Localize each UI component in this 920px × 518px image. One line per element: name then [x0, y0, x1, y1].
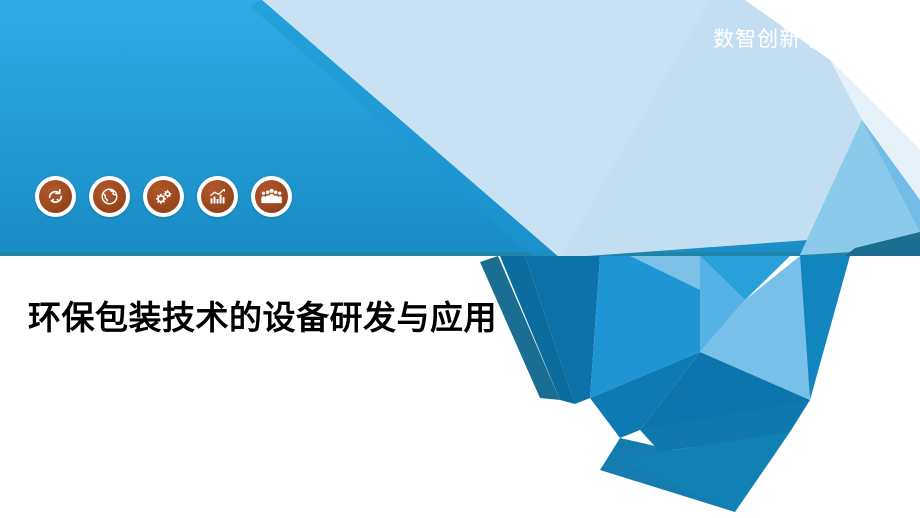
icon-badge-gears[interactable] — [143, 176, 184, 217]
decorative-polygon-background — [0, 0, 920, 518]
icon-badge-globe[interactable] — [89, 176, 130, 217]
feature-icon-strip — [35, 176, 292, 217]
icon-badge-people[interactable] — [251, 176, 292, 217]
title-block: 环保包装技术的设备研发与应用 — [28, 292, 548, 343]
gears-icon — [154, 187, 174, 207]
tagline: 数智创新 变革未来 — [713, 25, 896, 55]
icon-badge-bar-chart[interactable] — [197, 176, 238, 217]
bar-chart-growth-icon — [208, 187, 227, 206]
title-slide: 数智创新 变革未来 — [0, 0, 920, 518]
page-title: 环保包装技术的设备研发与应用 — [28, 292, 548, 343]
globe-icon — [100, 187, 119, 206]
icon-badge-recycle[interactable] — [35, 176, 76, 217]
people-group-icon — [261, 186, 282, 207]
header-band-rule — [0, 252, 920, 256]
recycle-arrows-icon — [46, 187, 65, 206]
